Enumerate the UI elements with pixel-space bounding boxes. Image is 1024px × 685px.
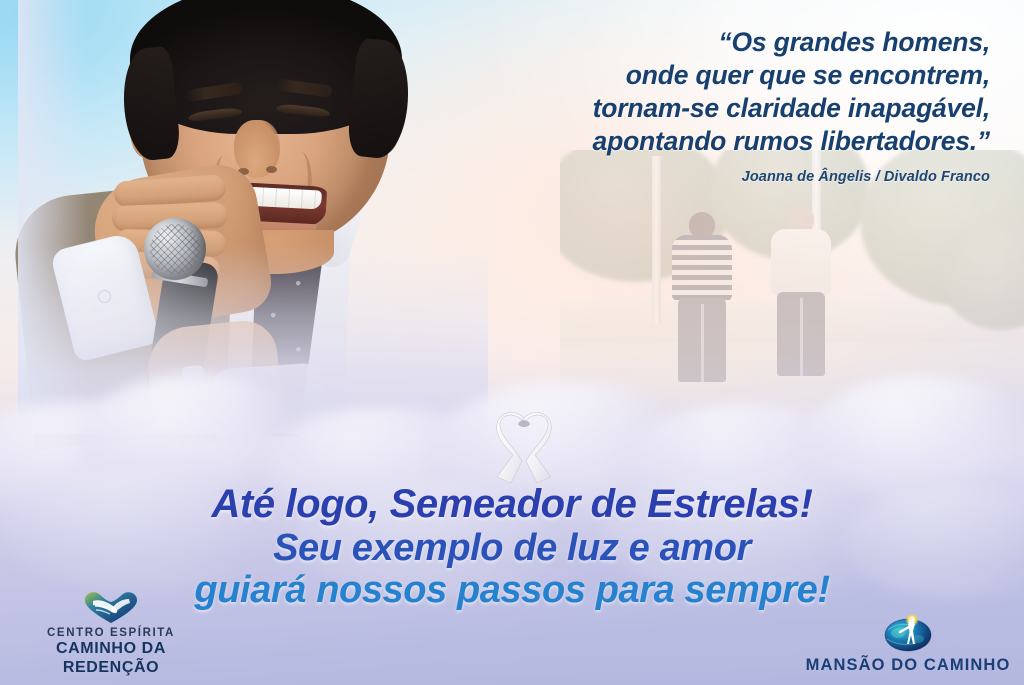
logo-left-line-1: CENTRO ESPÍRITA xyxy=(8,627,214,640)
globe-figure-icon xyxy=(882,611,934,653)
heart-hands-icon xyxy=(83,590,139,624)
quote-line-2: onde quer que se encontrem, xyxy=(390,59,990,92)
white-ribbon-icon xyxy=(489,409,559,487)
quote-attribution: Joanna de Ângelis / Divaldo Franco xyxy=(390,169,990,185)
logo-left-line-2: CAMINHO DA REDENÇÃO xyxy=(8,640,214,677)
headline-line-1: Até logo, Semeador de Estrelas! xyxy=(0,484,1024,526)
logo-right-line-1: MANSÃO DO CAMINHO xyxy=(800,656,1016,675)
logo-centro-espirita: CENTRO ESPÍRITA CAMINHO DA REDENÇÃO xyxy=(8,590,214,677)
quote-line-3: tornam-se claridade inapagável, xyxy=(390,92,990,125)
memorial-poster: “Os grandes homens, onde quer que se enc… xyxy=(0,0,1024,685)
quote-line-1: “Os grandes homens, xyxy=(390,26,990,59)
quote-line-4: apontando rumos libertadores.” xyxy=(390,125,990,158)
white-ribbon xyxy=(489,409,559,487)
quote-block: “Os grandes homens, onde quer que se enc… xyxy=(390,26,990,185)
headline-line-2: Seu exemplo de luz e amor xyxy=(0,529,1024,569)
logo-mansao-do-caminho: MANSÃO DO CAMINHO xyxy=(800,611,1016,675)
